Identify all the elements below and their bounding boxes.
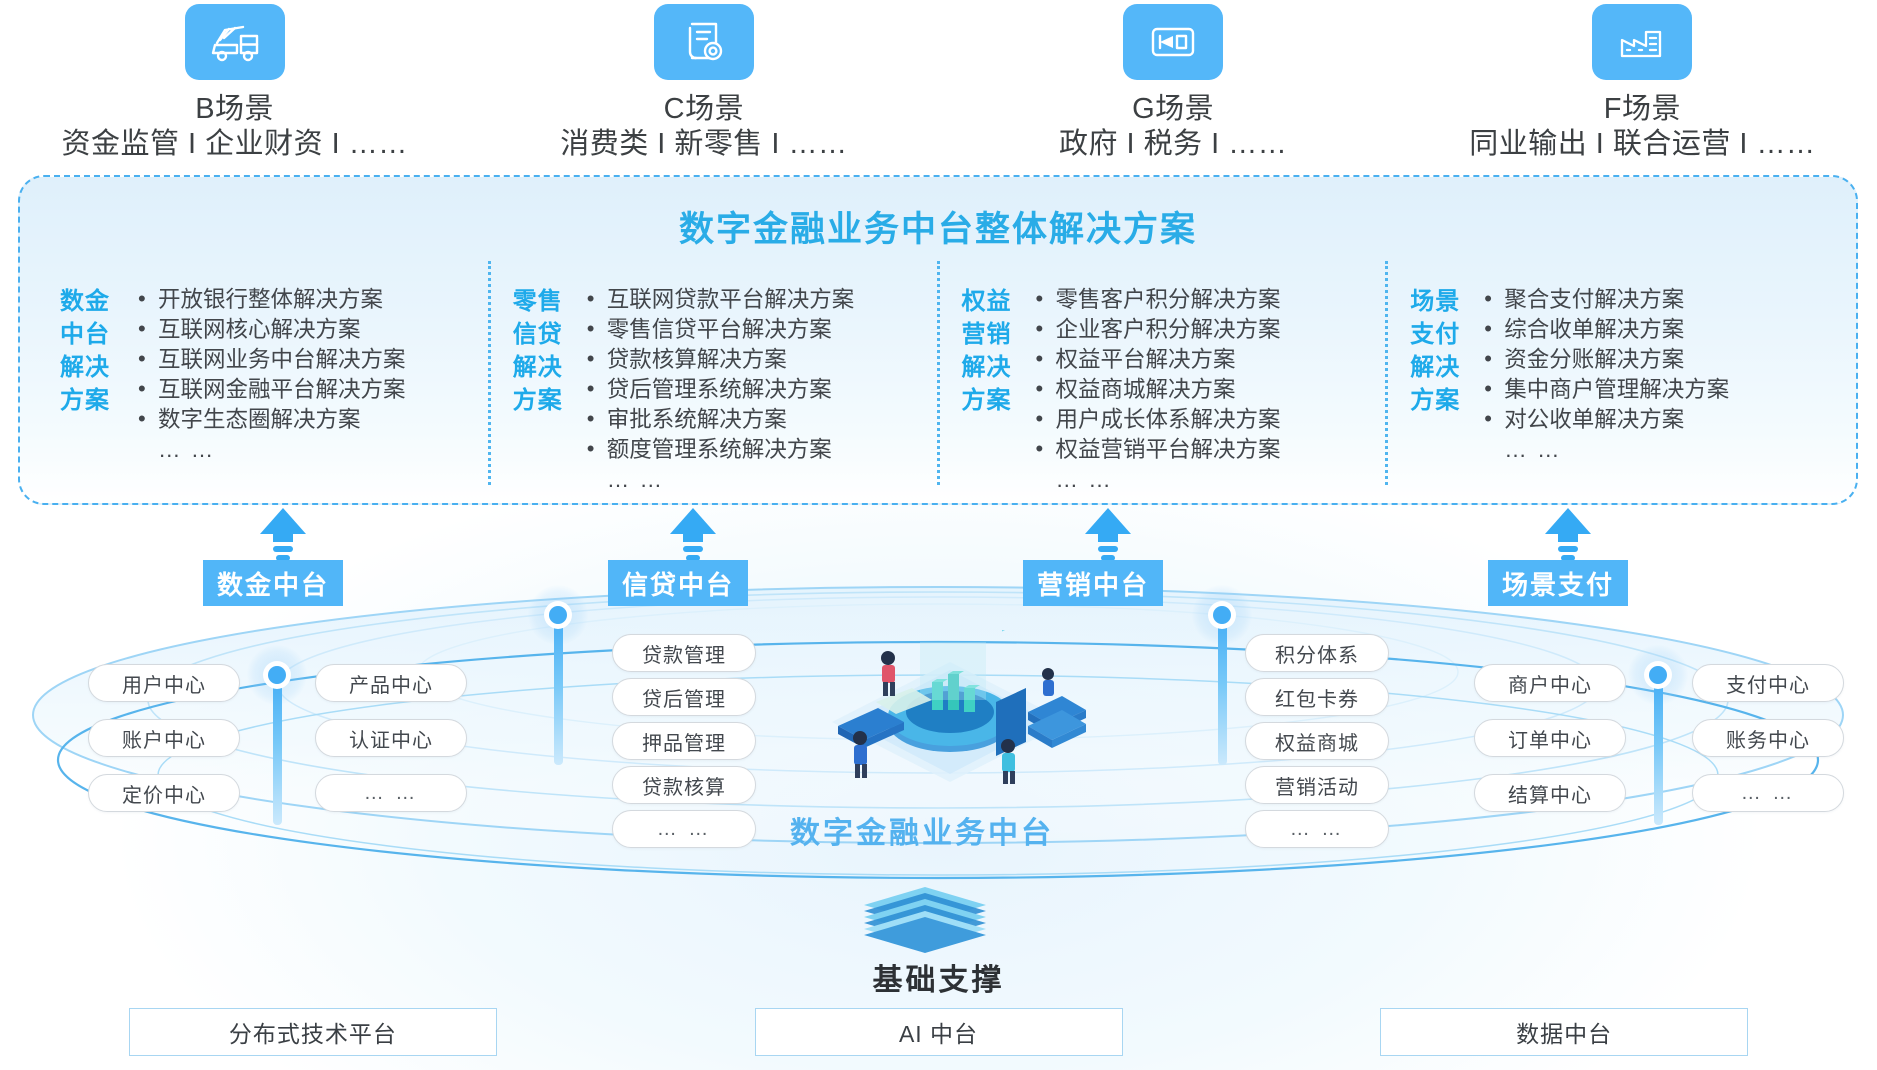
solution-item: 互联网业务中台解决方案 [136, 345, 488, 375]
solution-item: 权益商城解决方案 [1034, 375, 1386, 405]
scene-subtitle: 资金监管 I 企业财资 I …… [61, 127, 407, 162]
scene-title: F场景 [1604, 92, 1681, 127]
foundation-cell: AI 中台 [626, 1008, 1252, 1058]
solution-item-list: 开放银行整体解决方案 互联网核心解决方案 互联网业务中台解决方案 互联网金融平台… [124, 285, 488, 464]
pill-product-center[interactable]: 产品中心 [315, 664, 467, 702]
solution-column-changjing-zhifu: 场景 支付 解决 方案 聚合支付解决方案 综合收单解决方案 资金分账解决方案 集… [1385, 261, 1834, 485]
pill-payment-center[interactable]: 支付中心 [1692, 664, 1844, 702]
foundation-cell: 分布式技术平台 [0, 1008, 626, 1058]
scene-title: G场景 [1132, 92, 1214, 127]
scene-title: B场景 [195, 92, 274, 127]
solution-item: 审批系统解决方案 [585, 405, 937, 435]
scene-title: C场景 [664, 92, 744, 127]
scene-row: B场景 资金监管 I 企业财资 I …… C场景 消费类 I 新零售 I …… [0, 4, 1877, 169]
solution-item: 互联网贷款平台解决方案 [585, 285, 937, 315]
solution-item: 贷款核算解决方案 [585, 345, 937, 375]
pin-marker-shujin [247, 645, 307, 705]
pill-merchant-center[interactable]: 商户中心 [1474, 664, 1626, 702]
solution-ellipsis: … … [1034, 465, 1386, 494]
mid-badge-xindai[interactable]: 信贷中台 [608, 560, 748, 606]
pill-post-loan-management[interactable]: 贷后管理 [612, 678, 756, 716]
pill-pricing-center[interactable]: 定价中心 [88, 774, 240, 812]
foundation-box-ai-platform[interactable]: AI 中台 [755, 1008, 1123, 1056]
pin-marker-yingxiao [1192, 585, 1252, 645]
pin-marker-zhifu [1628, 645, 1688, 705]
solution-item: 零售客户积分解决方案 [1034, 285, 1386, 315]
solution-item: 权益平台解决方案 [1034, 345, 1386, 375]
foundation-row: 分布式技术平台 AI 中台 数据中台 [0, 1008, 1877, 1058]
solution-column-label: 零售 信贷 解决 方案 [491, 285, 573, 417]
solution-item-list: 互联网贷款平台解决方案 零售信贷平台解决方案 贷款核算解决方案 贷后管理系统解决… [573, 285, 937, 494]
solution-item: 数字生态圈解决方案 [136, 405, 488, 435]
scene-subtitle: 同业输出 I 联合运营 I …… [1469, 127, 1815, 162]
solution-item: 集中商户管理解决方案 [1482, 375, 1834, 405]
scene-card-c[interactable]: C场景 消费类 I 新零售 I …… [469, 4, 938, 169]
mid-badge-shujin[interactable]: 数金中台 [203, 560, 343, 606]
solution-item: 企业客户积分解决方案 [1034, 315, 1386, 345]
pin-marker-xindai [528, 585, 588, 645]
mid-badge-yingxiao[interactable]: 营销中台 [1023, 560, 1163, 606]
solution-item-list: 聚合支付解决方案 综合收单解决方案 资金分账解决方案 集中商户管理解决方案 对公… [1470, 285, 1834, 464]
scene-subtitle: 政府 I 税务 I …… [1059, 127, 1287, 162]
base-support-label: 基础支撑 [0, 955, 1877, 999]
foundation-cell: 数据中台 [1251, 1008, 1877, 1058]
up-arrow-shujin [260, 508, 306, 568]
solution-columns: 数金 中台 解决 方案 开放银行整体解决方案 互联网核心解决方案 互联网业务中台… [42, 261, 1834, 485]
pill-more-xindai[interactable]: … … [612, 810, 756, 848]
government-bank-icon [1123, 4, 1223, 80]
solution-item: 零售信贷平台解决方案 [585, 315, 937, 345]
solution-column-shujin: 数金 中台 解决 方案 开放银行整体解决方案 互联网核心解决方案 互联网业务中台… [42, 261, 488, 485]
solution-panel: 数字金融业务中台整体解决方案 数金 中台 解决 方案 开放银行整体解决方案 互联… [18, 175, 1858, 505]
solution-column-label: 权益 营销 解决 方案 [940, 285, 1022, 417]
solution-ellipsis: … … [585, 465, 937, 494]
pill-more-yingxiao[interactable]: … … [1245, 810, 1389, 848]
scene-subtitle: 消费类 I 新零售 I …… [560, 127, 847, 162]
solution-column-label: 场景 支付 解决 方案 [1388, 285, 1470, 417]
truck-cargo-icon [185, 4, 285, 80]
pill-loan-management[interactable]: 贷款管理 [612, 634, 756, 672]
solution-item: 对公收单解决方案 [1482, 405, 1834, 435]
solution-item: 互联网金融平台解决方案 [136, 375, 488, 405]
pill-accounting-center[interactable]: 账务中心 [1692, 719, 1844, 757]
solution-item: 互联网核心解决方案 [136, 315, 488, 345]
foundation-box-data-platform[interactable]: 数据中台 [1380, 1008, 1748, 1056]
solution-ellipsis: … … [1482, 435, 1834, 464]
pill-user-center[interactable]: 用户中心 [88, 664, 240, 702]
pill-red-packet-coupon[interactable]: 红包卡券 [1245, 678, 1389, 716]
solution-item: 贷后管理系统解决方案 [585, 375, 937, 405]
solution-item: 聚合支付解决方案 [1482, 285, 1834, 315]
pill-account-center[interactable]: 账户中心 [88, 719, 240, 757]
document-seal-icon [654, 4, 754, 80]
factory-building-icon [1592, 4, 1692, 80]
pill-points-system[interactable]: 积分体系 [1245, 634, 1389, 672]
solution-item: 开放银行整体解决方案 [136, 285, 488, 315]
solution-item: 权益营销平台解决方案 [1034, 435, 1386, 465]
pill-order-center[interactable]: 订单中心 [1474, 719, 1626, 757]
solution-item: 资金分账解决方案 [1482, 345, 1834, 375]
isometric-data-platform-illustration [800, 630, 1100, 800]
pill-collateral-management[interactable]: 押品管理 [612, 722, 756, 760]
solution-column-label: 数金 中台 解决 方案 [42, 285, 124, 417]
scene-card-b[interactable]: B场景 资金监管 I 企业财资 I …… [0, 4, 469, 169]
layered-stack-icon [860, 885, 990, 955]
solution-column-quanyi-yingxiao: 权益 营销 解决 方案 零售客户积分解决方案 企业客户积分解决方案 权益平台解决… [937, 261, 1386, 485]
solution-item: 用户成长体系解决方案 [1034, 405, 1386, 435]
pill-loan-accounting[interactable]: 贷款核算 [612, 766, 756, 804]
solution-item: 综合收单解决方案 [1482, 315, 1834, 345]
pill-rights-mall[interactable]: 权益商城 [1245, 722, 1389, 760]
foundation-box-distributed-tech[interactable]: 分布式技术平台 [129, 1008, 497, 1056]
scene-card-f[interactable]: F场景 同业输出 I 联合运营 I …… [1408, 4, 1877, 169]
solution-item-list: 零售客户积分解决方案 企业客户积分解决方案 权益平台解决方案 权益商城解决方案 … [1022, 285, 1386, 494]
solution-column-lingshou-xindai: 零售 信贷 解决 方案 互联网贷款平台解决方案 零售信贷平台解决方案 贷款核算解… [488, 261, 937, 485]
up-arrow-yingxiao [1085, 508, 1131, 568]
solution-ellipsis: … … [136, 435, 488, 464]
mid-badge-zhifu[interactable]: 场景支付 [1488, 560, 1628, 606]
up-arrow-xindai [670, 508, 716, 568]
pill-marketing-campaign[interactable]: 营销活动 [1245, 766, 1389, 804]
panel-title: 数字金融业务中台整体解决方案 [20, 201, 1856, 252]
up-arrow-zhifu [1545, 508, 1591, 568]
solution-item: 额度管理系统解决方案 [585, 435, 937, 465]
platform-label: 数字金融业务中台 [790, 808, 1054, 852]
pill-more-zhifu[interactable]: … … [1692, 774, 1844, 812]
pill-more-shujin[interactable]: … … [315, 774, 467, 812]
pill-auth-center[interactable]: 认证中心 [315, 719, 467, 757]
pill-settlement-center[interactable]: 结算中心 [1474, 774, 1626, 812]
scene-card-g[interactable]: G场景 政府 I 税务 I …… [939, 4, 1408, 169]
